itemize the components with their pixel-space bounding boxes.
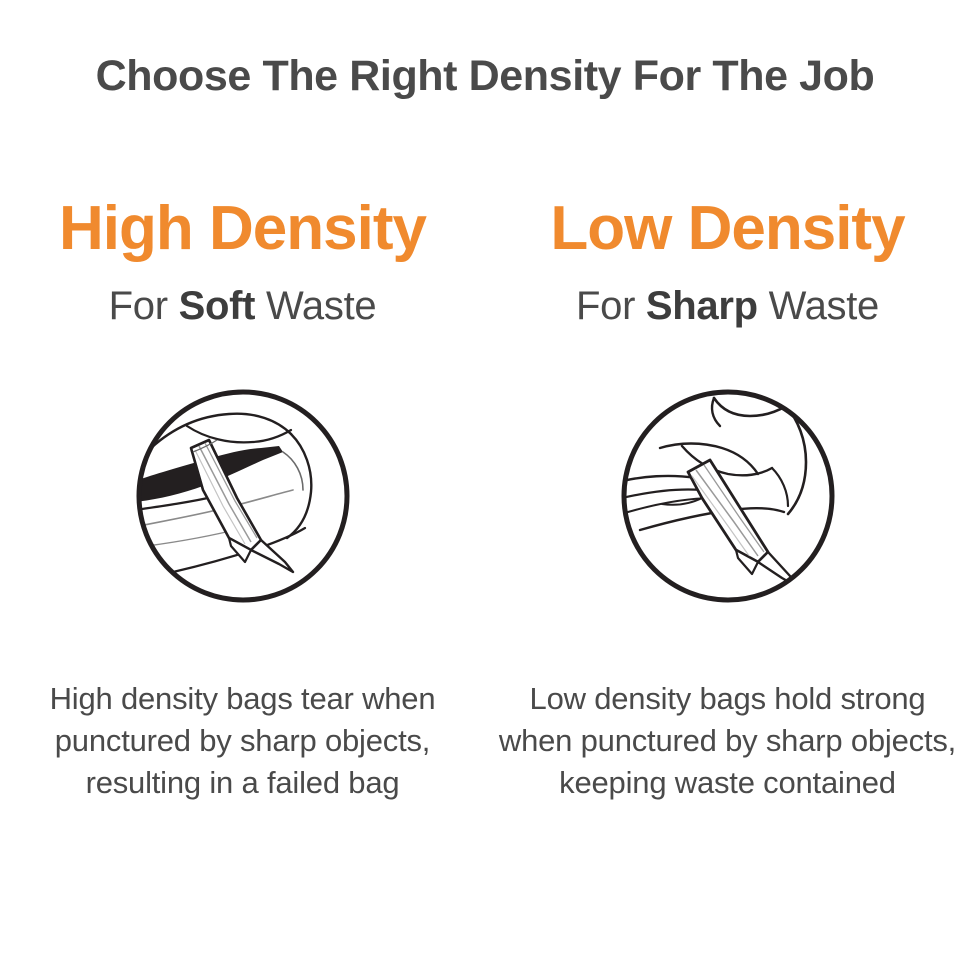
waste-suffix: Waste — [255, 284, 376, 328]
intact-bag-resisting-sharp-object-icon — [618, 386, 838, 606]
waste-prefix: For — [109, 284, 179, 328]
caption-high-density: High density bags tear when punctured by… — [17, 678, 469, 804]
waste-suffix: Waste — [758, 284, 879, 328]
waste-emphasis: Sharp — [646, 284, 758, 328]
torn-bag-punctured-by-sharp-object-icon — [133, 386, 353, 606]
column-low-density: Low Density For Sharp Waste — [485, 186, 970, 804]
waste-emphasis: Soft — [179, 284, 256, 328]
waste-type-low-density: For Sharp Waste — [576, 284, 879, 328]
page-title: Choose The Right Density For The Job — [0, 52, 970, 100]
heading-low-density: Low Density — [550, 186, 904, 272]
column-high-density: High Density For Soft Waste — [0, 186, 485, 804]
comparison-columns: High Density For Soft Waste — [0, 186, 970, 804]
waste-prefix: For — [576, 284, 646, 328]
infographic-root: Choose The Right Density For The Job Hig… — [0, 0, 970, 971]
heading-high-density: High Density — [59, 186, 426, 272]
caption-low-density: Low density bags hold strong when punctu… — [498, 678, 958, 804]
waste-type-high-density: For Soft Waste — [109, 284, 377, 328]
